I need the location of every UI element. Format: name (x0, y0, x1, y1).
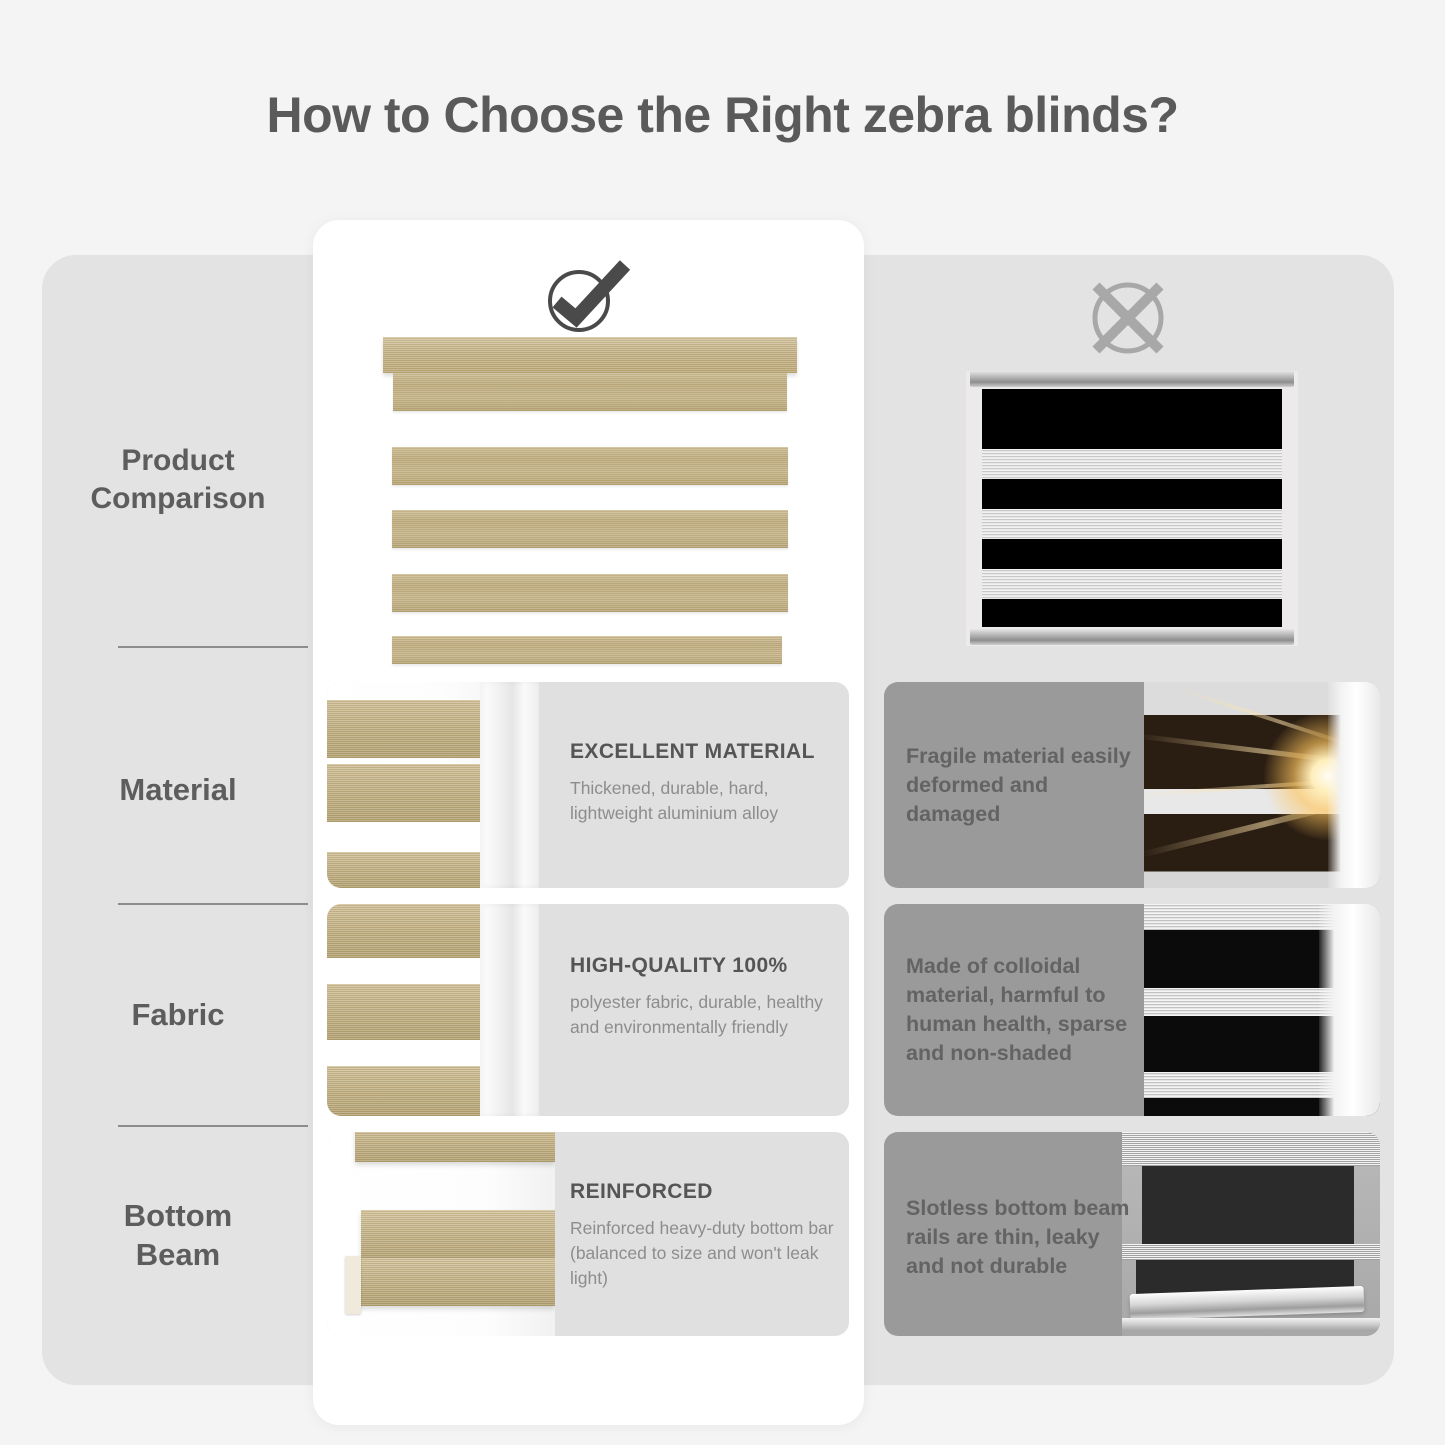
bad-card-fabric-text: Made of colloidal material, harmful to h… (906, 952, 1144, 1068)
sidebar-label-line2: Beam (124, 1235, 232, 1274)
bad-card-bottom-beam: Slotless bottom beam rails are thin, lea… (884, 1132, 1380, 1336)
sidebar-divider-2 (118, 903, 308, 905)
beige-fabric-closeup-photo (327, 904, 539, 1116)
bad-card-material-text: Fragile material easily deformed and dam… (906, 742, 1132, 829)
good-card-bottom-beam: REINFORCED Reinforced heavy-duty bottom … (327, 1132, 849, 1336)
black-sheer-fabric-photo (1144, 904, 1380, 1116)
sidebar-label-line1: Material (119, 770, 236, 809)
page-title: How to Choose the Right zebra blinds? (0, 86, 1445, 144)
good-card-fabric-body: polyester fabric, durable, healthy and e… (570, 990, 838, 1040)
bad-blind-sheer-band (982, 509, 1282, 539)
blind-slat (392, 510, 788, 548)
blind-bottom-bar (392, 636, 782, 664)
sidebar-item-fabric: Fabric (42, 985, 314, 1045)
sidebar-divider-1 (118, 646, 308, 648)
bad-blind-headrail (970, 371, 1294, 387)
sidebar-label-line1: Fabric (131, 995, 224, 1034)
good-card-bottom-beam-title: REINFORCED (570, 1180, 846, 1204)
good-card-material-text: EXCELLENT MATERIAL Thickened, durable, h… (570, 740, 832, 826)
bad-card-fabric: Made of colloidal material, harmful to h… (884, 904, 1380, 1116)
good-card-fabric: HIGH-QUALITY 100% polyester fabric, dura… (327, 904, 849, 1116)
cross-circle-icon (1082, 272, 1174, 364)
good-card-material-title: EXCELLENT MATERIAL (570, 740, 832, 764)
sidebar-item-material: Material (42, 760, 314, 820)
bad-blind-body (982, 389, 1282, 627)
blind-valance (383, 337, 797, 373)
blind-slat (392, 574, 788, 612)
good-card-material-body: Thickened, durable, hard, lightweight al… (570, 776, 832, 826)
check-circle-icon (535, 255, 635, 335)
sidebar-label-line1: Bottom (124, 1196, 232, 1235)
blind-slat (393, 373, 787, 411)
good-card-fabric-text: HIGH-QUALITY 100% polyester fabric, dura… (570, 954, 838, 1040)
sun-glare-leak-photo (1144, 682, 1380, 888)
beige-blind-closeup-photo (327, 682, 539, 888)
sidebar-label-line2: Comparison (90, 480, 265, 518)
bad-blind-bottomrail (970, 629, 1294, 645)
good-card-material: EXCELLENT MATERIAL Thickened, durable, h… (327, 682, 849, 888)
bad-card-material: Fragile material easily deformed and dam… (884, 682, 1380, 888)
sidebar-divider-3 (118, 1125, 308, 1127)
good-card-bottom-beam-text: REINFORCED Reinforced heavy-duty bottom … (570, 1180, 846, 1291)
bad-blind-sheer-band (982, 569, 1282, 599)
sidebar-item-product-comparison: Product Comparison (42, 420, 314, 540)
bad-product-image (966, 371, 1298, 646)
bad-card-bottom-beam-text: Slotless bottom beam rails are thin, lea… (906, 1194, 1138, 1281)
sidebar-item-bottom-beam: Bottom Beam (42, 1180, 314, 1290)
thin-bottom-rail-photo (1122, 1132, 1380, 1336)
category-sidebar: Product Comparison Material Fabric Botto… (42, 255, 314, 1385)
good-card-bottom-beam-body: Reinforced heavy-duty bottom bar (balanc… (570, 1216, 846, 1291)
sidebar-label-line1: Product (90, 442, 265, 480)
blind-slat (392, 447, 788, 485)
reinforced-bottom-bar-photo (327, 1132, 555, 1336)
good-card-fabric-title: HIGH-QUALITY 100% (570, 954, 838, 978)
good-product-image (383, 337, 797, 667)
bad-blind-sheer-band (982, 449, 1282, 479)
